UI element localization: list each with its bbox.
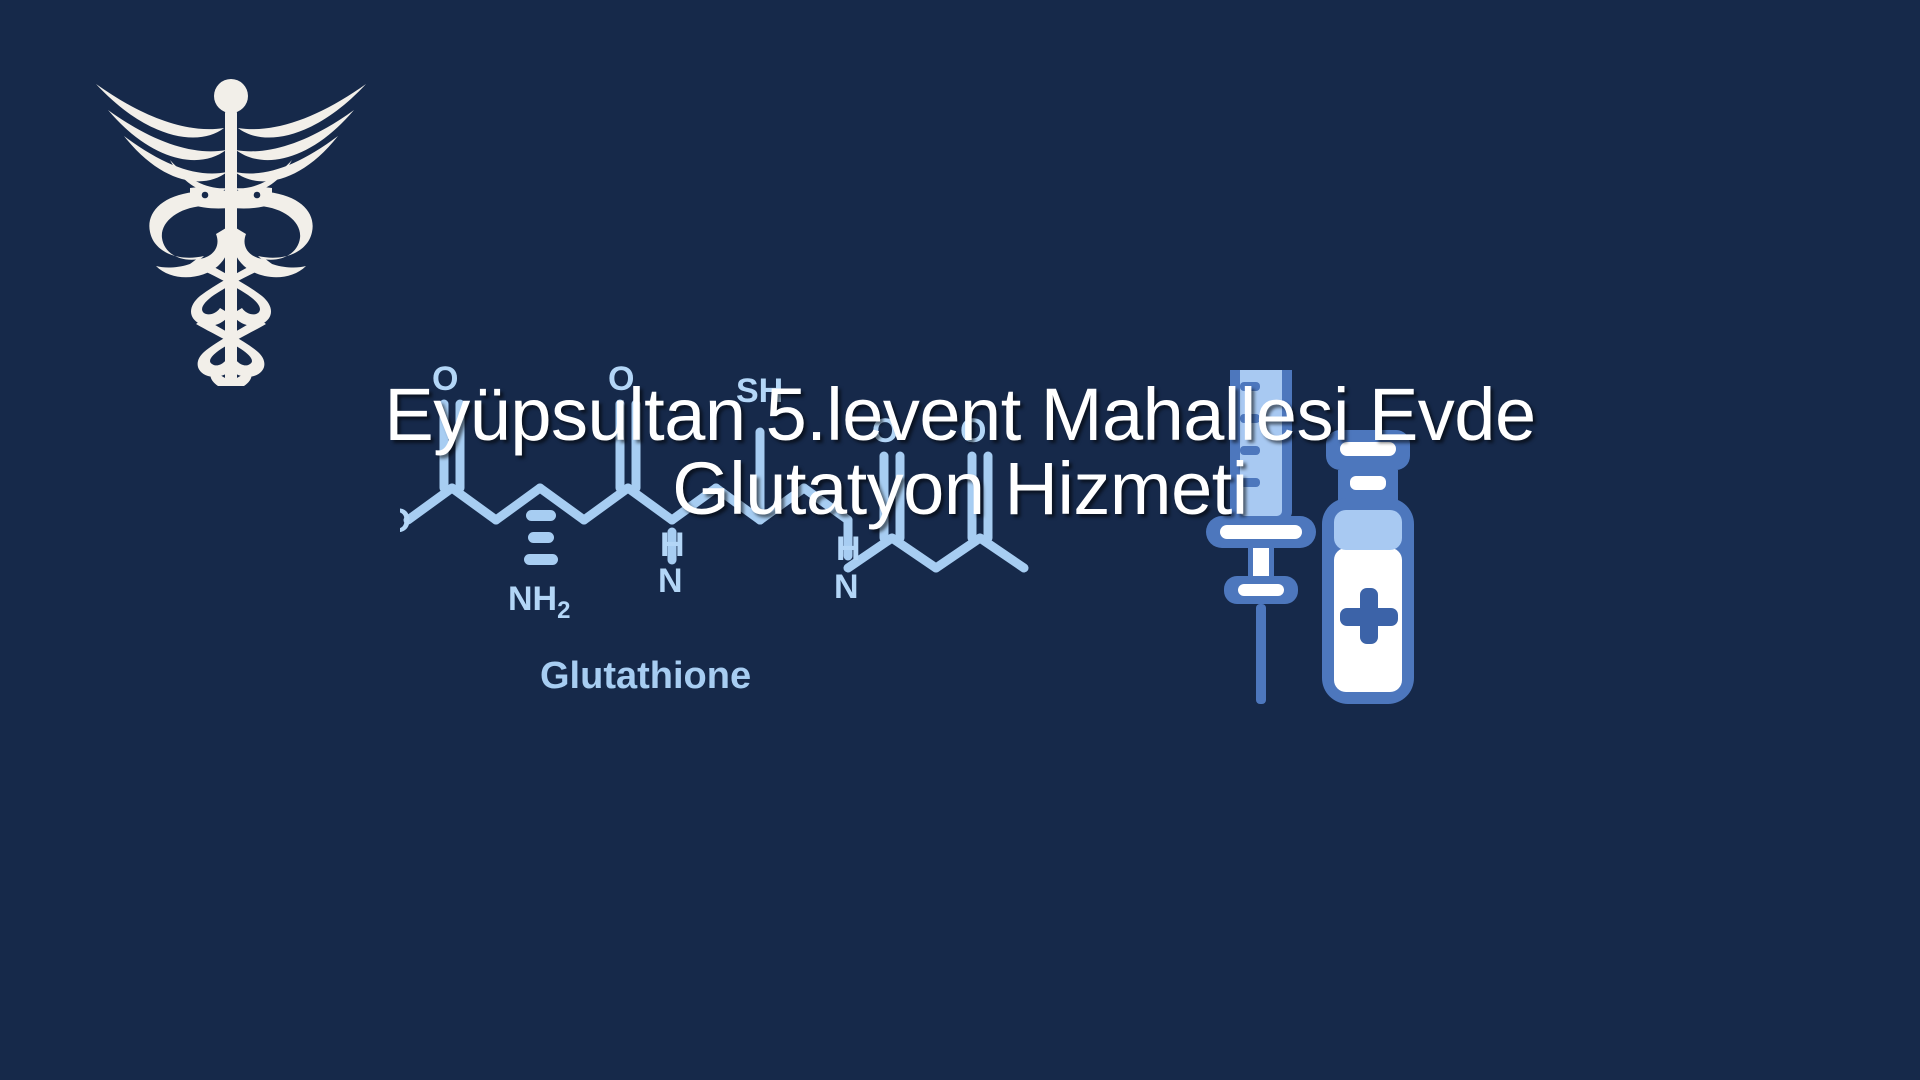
bond-bar	[524, 554, 558, 565]
label-SH: SH	[736, 372, 783, 410]
label-N-left: N	[658, 562, 683, 600]
label-O-mid: O	[872, 412, 898, 450]
bond-bar	[528, 532, 554, 543]
molecule-caption: Glutathione	[540, 655, 751, 697]
label-NH2: NH2	[508, 580, 570, 624]
label-HO: HO	[400, 502, 411, 540]
bond-bar	[526, 510, 556, 521]
label-O-right: O	[960, 412, 986, 450]
hero-banner: HO NH2 SH O O O O N N H H Glutathione	[0, 0, 1920, 1080]
injection-supplies-graphic	[1200, 370, 1440, 710]
label-O-left: O	[608, 360, 634, 398]
label-O-farleft: O	[432, 360, 458, 398]
label-N-right: N	[834, 568, 859, 606]
syringe-icon	[1206, 370, 1316, 704]
medicine-vial-icon	[1322, 430, 1414, 704]
caduceus-icon	[86, 56, 376, 386]
label-H-right: H	[836, 530, 861, 568]
label-H-left: H	[660, 526, 685, 564]
glutathione-molecule-graphic: HO NH2 SH O O O O N N H H Glutathione	[400, 360, 1140, 700]
